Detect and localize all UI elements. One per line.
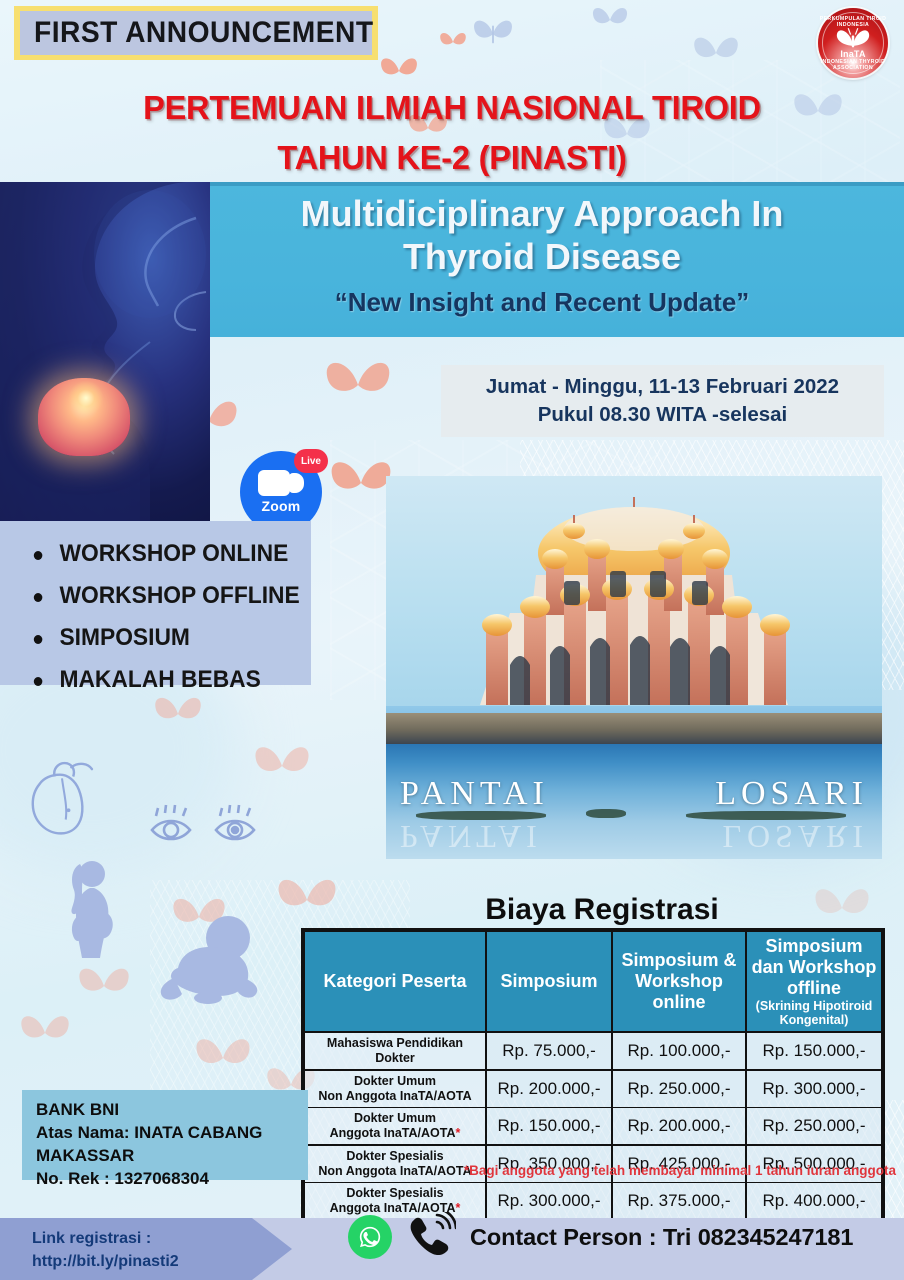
col-header-simposium: Simposium: [486, 931, 612, 1032]
butterfly-icon: [590, 2, 630, 38]
first-announcement-inner: FIRST ANNOUNCEMENT: [20, 11, 372, 55]
row-category: Dokter Umum Anggota InaTA/AOTA*: [304, 1108, 486, 1146]
registration-label: Link registrasi :: [32, 1227, 292, 1250]
hero-quote: “New Insight and Recent Update”: [200, 287, 884, 318]
row-category: Dokter Umum Non Anggota InaTA/AOTA: [304, 1070, 486, 1108]
row-category-line-1: Mahasiswa Pendidikan Dokter: [327, 1036, 463, 1065]
row-category-line-1: Dokter Spesialis: [346, 1149, 443, 1163]
zoom-camera-icon: [258, 470, 304, 496]
butterfly-icon: [470, 14, 516, 54]
member-asterisk: *: [456, 1126, 461, 1140]
list-item: SIMPOSIUM: [30, 617, 297, 659]
head-profile-silhouette: [0, 182, 210, 527]
col-header-simposium-workshop-offline: Simposium dan Workshop offline (Skrining…: [746, 931, 882, 1032]
butterfly-icon: [438, 28, 468, 56]
table-row: Mahasiswa Pendidikan Dokter Rp. 75.000,-…: [304, 1032, 882, 1070]
row-fee-offline: Rp. 300.000,-: [746, 1070, 882, 1108]
event-title-line-2: TAHUN KE-2 (PINASTI): [14, 134, 891, 184]
hero-subtitle: Multidiciplinary Approach In Thyroid Dis…: [200, 192, 884, 278]
activities-list: WORKSHOP ONLINE WORKSHOP OFFLINE SIMPOSI…: [0, 521, 311, 685]
thyroid-anatomy-illustration: [0, 182, 210, 527]
photo-seawall: [386, 713, 882, 744]
registration-link-arrow[interactable]: Link registrasi : http://bit.ly/pinasti2: [0, 1218, 292, 1280]
row-fee-online: Rp. 250.000,-: [612, 1070, 746, 1108]
butterfly-icon: [250, 738, 314, 794]
row-category: Mahasiswa Pendidikan Dokter: [304, 1032, 486, 1070]
table-row: Dokter Umum Non Anggota InaTA/AOTA Rp. 2…: [304, 1070, 882, 1108]
pregnant-woman-icon: [56, 858, 120, 968]
row-category-line-2: Anggota InaTA/AOTA: [330, 1126, 456, 1140]
col-header-category: Kategori Peserta: [304, 931, 486, 1032]
inata-logo: PERKUMPULAN TIROID INDONESIA InaTA INDON…: [818, 8, 888, 78]
bank-account-name: Atas Nama: INATA CABANG: [36, 1121, 308, 1144]
row-fee-simposium: Rp. 200.000,-: [486, 1070, 612, 1108]
zoom-camera-body: [258, 470, 290, 496]
row-fee-offline: Rp. 400.000,-: [746, 1183, 882, 1221]
event-title-line-1: PERTEMUAN ILMIAH NASIONAL TIROID: [143, 90, 761, 127]
butterfly-icon: [690, 30, 742, 76]
list-item: WORKSHOP ONLINE: [30, 533, 297, 575]
table-header-row: Kategori Peserta Simposium Simposium & W…: [304, 931, 882, 1032]
ringing-phone-icon: [404, 1212, 456, 1262]
bank-details: BANK BNI Atas Nama: INATA CABANG MAKASSA…: [22, 1090, 308, 1180]
logo-acronym: InaTA: [818, 49, 888, 59]
zoom-label: Zoom: [262, 498, 301, 514]
table-row: Dokter Spesialis Anggota InaTA/AOTA* Rp.…: [304, 1183, 882, 1221]
fees-title: Biaya Registrasi: [300, 893, 904, 927]
row-fee-simposium: Rp. 150.000,-: [486, 1108, 612, 1146]
table-row: Dokter Umum Anggota InaTA/AOTA* Rp. 150.…: [304, 1108, 882, 1146]
photo-caption: PANTAI LOSARI: [386, 775, 882, 813]
row-category-line-2: Non Anggota InaTA/AOTA: [318, 1089, 471, 1103]
first-announcement-banner: FIRST ANNOUNCEMENT: [14, 6, 378, 60]
butterfly-icon: [320, 352, 396, 418]
schedule-date: Jumat - Minggu, 11-13 Februari 2022: [486, 375, 839, 399]
masjid-99-kubah: [424, 495, 844, 725]
logo-bottom-text: INDONESIAN THYROID ASSOCIATION: [818, 59, 888, 71]
hero-subtitle-line-1: Multidiciplinary Approach In: [200, 192, 884, 235]
bank-account-number: No. Rek : 1327068304: [36, 1167, 308, 1190]
butterfly-icon: [16, 1008, 74, 1058]
first-announcement-label: FIRST ANNOUNCEMENT: [34, 16, 374, 50]
photo-caption-right: LOSARI: [715, 775, 868, 813]
list-item: WORKSHOP OFFLINE: [30, 575, 297, 617]
whatsapp-icon[interactable]: [348, 1215, 392, 1259]
bank-name: BANK BNI: [36, 1098, 308, 1121]
photo-caption-right-reflection: LOSARI: [722, 818, 868, 855]
photo-caption-left-reflection: PANTAI: [400, 818, 542, 855]
live-badge: Live: [294, 449, 328, 473]
pantai-losari-photo: PANTAI LOSARI PANTAI LOSARI: [386, 476, 882, 859]
row-fee-simposium: Rp. 75.000,-: [486, 1032, 612, 1070]
hero-subtitle-line-2: Thyroid Disease: [200, 235, 884, 278]
schedule-box: Jumat - Minggu, 11-13 Februari 2022 Puku…: [441, 365, 884, 437]
member-asterisk: *: [456, 1201, 461, 1215]
thyroid-glow-spark: [66, 378, 106, 418]
row-fee-simposium: Rp. 300.000,-: [486, 1183, 612, 1221]
bank-branch: MAKASSAR: [36, 1144, 308, 1167]
poster-canvas: FIRST ANNOUNCEMENT PERKUMPULAN TIROID IN…: [0, 0, 904, 1280]
contact-person: Contact Person : Tri 082345247181: [470, 1224, 853, 1251]
row-fee-offline: Rp. 250.000,-: [746, 1108, 882, 1146]
col-header-simposium-workshop-online: Simposium & Workshop online: [612, 931, 746, 1032]
row-category-line-1: Dokter Spesialis: [346, 1186, 443, 1200]
row-fee-online: Rp. 375.000,-: [612, 1183, 746, 1221]
registration-link[interactable]: http://bit.ly/pinasti2: [32, 1250, 292, 1273]
heart-icon: [24, 756, 100, 842]
photo-caption-reflection: PANTAI LOSARI: [386, 818, 882, 855]
schedule-time: Pukul 08.30 WITA -selesai: [538, 403, 788, 427]
row-category-line-1: Dokter Umum: [354, 1111, 436, 1125]
photo-caption-left: PANTAI: [400, 775, 549, 813]
row-fee-offline: Rp. 150.000,-: [746, 1032, 882, 1070]
col-header-offline-note: (Skrining Hipotiroid Kongenital): [751, 999, 877, 1027]
list-item: MAKALAH BEBAS: [30, 659, 297, 701]
event-title: PERTEMUAN ILMIAH NASIONAL TIROID TAHUN K…: [14, 84, 891, 184]
eyes-icon: [146, 800, 274, 850]
row-category-line-1: Dokter Umum: [354, 1074, 436, 1088]
crawling-baby-icon: [148, 912, 268, 1004]
zoom-camera-lens: [289, 473, 304, 493]
butterfly-icon: [190, 1030, 256, 1086]
row-category: Dokter Spesialis Anggota InaTA/AOTA*: [304, 1183, 486, 1221]
row-fee-online: Rp. 200.000,-: [612, 1108, 746, 1146]
col-header-offline-main: Simposium dan Workshop offline: [752, 936, 877, 998]
row-fee-online: Rp. 100.000,-: [612, 1032, 746, 1070]
fees-footnote: *Bagi anggota yang telah membayar minima…: [300, 1163, 896, 1178]
